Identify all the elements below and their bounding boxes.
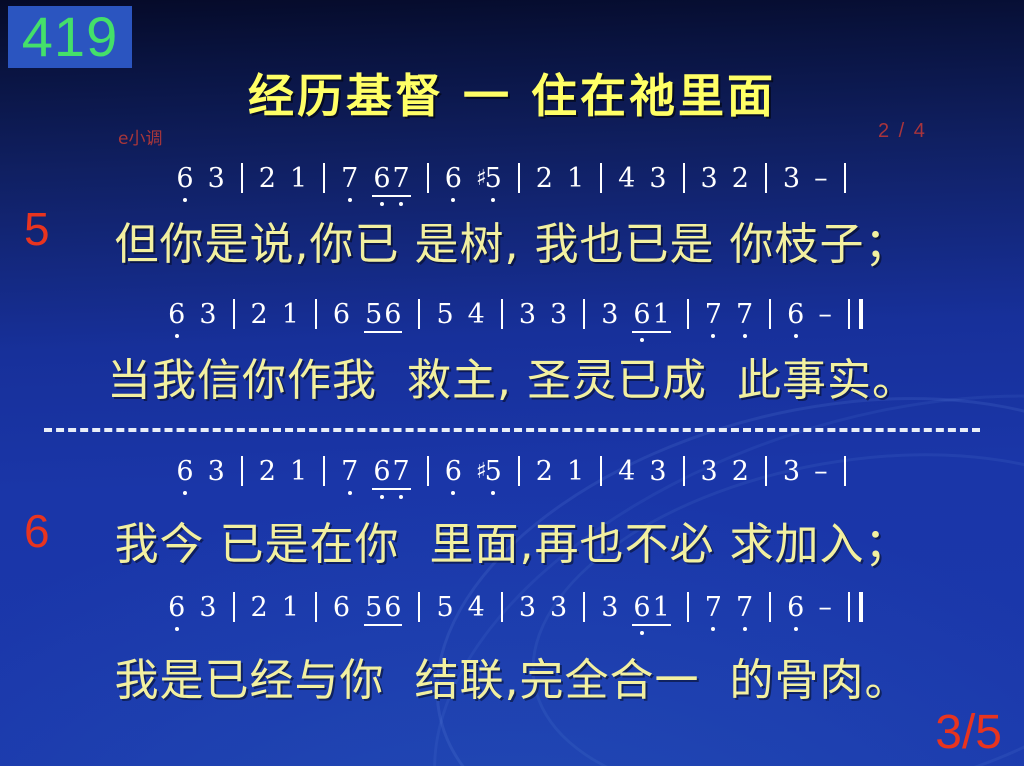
note: 1 bbox=[283, 456, 314, 487]
page-title: 经历基督 一 住在祂里面 bbox=[0, 60, 1024, 126]
note-value: 4 bbox=[618, 163, 635, 194]
notation-line-1: 63217676♯52143323– bbox=[0, 163, 1024, 194]
note: 4 bbox=[461, 299, 492, 330]
note: 3 bbox=[594, 299, 625, 330]
measure: 6♯5 bbox=[438, 163, 509, 194]
note-value: 1 bbox=[282, 299, 299, 330]
note-value: 6 bbox=[383, 299, 402, 330]
barline bbox=[315, 592, 317, 622]
note-value: 3 bbox=[199, 592, 216, 623]
note: 2 bbox=[244, 299, 275, 330]
note: 6 bbox=[780, 299, 811, 330]
note-value: 3 bbox=[649, 456, 666, 487]
note-value: 7 bbox=[341, 163, 358, 194]
measure: 21 bbox=[252, 163, 314, 194]
note-value: 6 bbox=[372, 163, 391, 194]
note: 1 bbox=[560, 163, 591, 194]
barline bbox=[418, 299, 420, 329]
note-value: 6 bbox=[333, 299, 350, 330]
measure: 43 bbox=[611, 456, 673, 487]
lyrics-line-3: 我今 已是在你 里面,再也不必 求加入； bbox=[0, 508, 1024, 572]
note-value: 5 bbox=[436, 299, 453, 330]
note: 6 bbox=[326, 299, 357, 330]
measure: 77 bbox=[698, 299, 760, 330]
beam-bar: 67 bbox=[372, 163, 410, 194]
note: 1 bbox=[283, 163, 314, 194]
note-value: 1 bbox=[282, 592, 299, 623]
measure: 6– bbox=[780, 299, 839, 330]
barline bbox=[844, 163, 846, 193]
barline bbox=[427, 456, 429, 486]
section-divider bbox=[44, 428, 980, 432]
barline bbox=[765, 456, 767, 486]
note: 3 bbox=[694, 163, 725, 194]
barline bbox=[427, 163, 429, 193]
barline bbox=[233, 592, 235, 622]
note: 1 bbox=[275, 299, 306, 330]
measure: 63 bbox=[161, 299, 223, 330]
note: 3 bbox=[694, 456, 725, 487]
measure: 32 bbox=[694, 456, 756, 487]
barline bbox=[769, 592, 771, 622]
note-value: 7 bbox=[705, 299, 722, 330]
barline bbox=[315, 299, 317, 329]
measure: 3– bbox=[776, 163, 835, 194]
note: 6 bbox=[161, 592, 192, 623]
barline bbox=[844, 456, 846, 486]
note: 2 bbox=[529, 163, 560, 194]
note-value: 6 bbox=[383, 592, 402, 623]
note-value: 2 bbox=[259, 163, 276, 194]
hymn-slide: 419 经历基督 一 住在祂里面 e小调 2 / 4 5 6 63217676♯… bbox=[0, 0, 1024, 766]
barline bbox=[687, 299, 689, 329]
note: 4 bbox=[611, 456, 642, 487]
note: 3 bbox=[201, 456, 232, 487]
beam-bar: 67 bbox=[372, 456, 410, 487]
note-value: 3 bbox=[208, 163, 225, 194]
note-value: 1 bbox=[652, 592, 671, 623]
note: 6 bbox=[326, 592, 357, 623]
measure: 63 bbox=[169, 456, 231, 487]
note: 3 bbox=[776, 163, 807, 194]
note-value: 3 bbox=[550, 592, 567, 623]
measure: 656 bbox=[326, 299, 410, 330]
measure: 21 bbox=[244, 299, 306, 330]
lyrics-line-2: 当我信你作我 救主, 圣灵已成 此事实。 bbox=[0, 344, 1024, 408]
note: 2 bbox=[252, 163, 283, 194]
barline bbox=[600, 456, 602, 486]
note-value: 3 bbox=[601, 299, 618, 330]
measure: 361 bbox=[594, 299, 678, 330]
beamed-notes: 61 bbox=[625, 592, 677, 623]
note: 7 bbox=[729, 299, 760, 330]
key-signature-label: e小调 bbox=[118, 124, 162, 149]
notation-line-3: 63217676♯52143323– bbox=[0, 456, 1024, 487]
beam-bar: 56 bbox=[364, 592, 402, 623]
barline bbox=[765, 163, 767, 193]
note-value: 6 bbox=[632, 592, 651, 623]
barline bbox=[848, 592, 850, 622]
note-value: 2 bbox=[732, 456, 749, 487]
hymn-number-badge: 419 bbox=[8, 6, 132, 68]
note: 7 bbox=[334, 163, 365, 194]
note: 5 bbox=[429, 299, 460, 330]
note-value: 5 bbox=[436, 592, 453, 623]
beam-bar: 61 bbox=[632, 299, 670, 330]
note-value: 7 bbox=[341, 456, 358, 487]
note-value: 2 bbox=[251, 592, 268, 623]
note-value: 5 bbox=[364, 592, 383, 623]
note-value: – bbox=[814, 163, 828, 194]
measure: 33 bbox=[512, 299, 574, 330]
barline bbox=[501, 299, 503, 329]
lyrics-line-1: 但你是说,你已 是树, 我也已是 你枝子； bbox=[0, 208, 1024, 272]
measure: 32 bbox=[694, 163, 756, 194]
note-value: 1 bbox=[290, 163, 307, 194]
measure: 21 bbox=[244, 592, 306, 623]
barline bbox=[418, 592, 420, 622]
note-value: 1 bbox=[652, 299, 671, 330]
note: 3 bbox=[642, 163, 673, 194]
barline bbox=[233, 299, 235, 329]
barline bbox=[683, 163, 685, 193]
note-value: 3 bbox=[519, 299, 536, 330]
final-barline bbox=[859, 299, 863, 329]
measure: 656 bbox=[326, 592, 410, 623]
note: 6 bbox=[169, 163, 200, 194]
note: 3 bbox=[642, 456, 673, 487]
barline bbox=[687, 592, 689, 622]
measure: 767 bbox=[334, 456, 418, 487]
measure: 77 bbox=[698, 592, 760, 623]
barline bbox=[583, 592, 585, 622]
note-value: 7 bbox=[705, 592, 722, 623]
notation-line-2: 63216565433361776– bbox=[0, 299, 1024, 330]
note: 1 bbox=[275, 592, 306, 623]
hymn-number: 419 bbox=[22, 9, 118, 65]
note: 3 bbox=[543, 592, 574, 623]
measure: 767 bbox=[334, 163, 418, 194]
note-value: 1 bbox=[567, 456, 584, 487]
barline bbox=[518, 163, 520, 193]
note: 3 bbox=[512, 299, 543, 330]
barline bbox=[600, 163, 602, 193]
note-value: 2 bbox=[259, 456, 276, 487]
final-barline bbox=[859, 592, 863, 622]
note-value: 6 bbox=[176, 163, 193, 194]
note: 2 bbox=[252, 456, 283, 487]
note-value: 6 bbox=[168, 592, 185, 623]
note: 3 bbox=[192, 592, 223, 623]
note-value: 6 bbox=[445, 163, 462, 194]
note-value: 5 bbox=[485, 163, 502, 194]
note-value: 3 bbox=[701, 456, 718, 487]
note: 6 bbox=[780, 592, 811, 623]
measure: 6♯5 bbox=[438, 456, 509, 487]
note-value: 2 bbox=[536, 456, 553, 487]
note: 7 bbox=[334, 456, 365, 487]
note: 3 bbox=[776, 456, 807, 487]
note-value: 6 bbox=[445, 456, 462, 487]
beamed-notes: 67 bbox=[365, 163, 417, 194]
note: 7 bbox=[698, 299, 729, 330]
beamed-notes: 67 bbox=[365, 456, 417, 487]
barline bbox=[241, 163, 243, 193]
note-value: 4 bbox=[618, 456, 635, 487]
barline bbox=[769, 299, 771, 329]
note: 3 bbox=[543, 299, 574, 330]
measure: 33 bbox=[512, 592, 574, 623]
measure: 63 bbox=[169, 163, 231, 194]
note-value: 7 bbox=[392, 456, 411, 487]
note-value: 3 bbox=[701, 163, 718, 194]
note: 3 bbox=[201, 163, 232, 194]
beamed-notes: 56 bbox=[357, 592, 409, 623]
note: 6 bbox=[438, 456, 469, 487]
note: 2 bbox=[725, 163, 756, 194]
note: 3 bbox=[192, 299, 223, 330]
note-value: 2 bbox=[732, 163, 749, 194]
note-value: 3 bbox=[783, 456, 800, 487]
note-value: 4 bbox=[468, 592, 485, 623]
note: 2 bbox=[725, 456, 756, 487]
note-value: 5 bbox=[364, 299, 383, 330]
note: 6 bbox=[438, 163, 469, 194]
beam-bar: 61 bbox=[632, 592, 670, 623]
note-value: – bbox=[818, 299, 832, 330]
measure: 54 bbox=[429, 299, 491, 330]
note-value: 7 bbox=[736, 592, 753, 623]
barline bbox=[518, 456, 520, 486]
time-signature-label: 2 / 4 bbox=[878, 120, 927, 143]
measure: 6– bbox=[780, 592, 839, 623]
note-value: 7 bbox=[392, 163, 411, 194]
note-value: 6 bbox=[787, 592, 804, 623]
note-value: 3 bbox=[519, 592, 536, 623]
lyrics-line-4: 我是已经与你 结联,完全合一 的骨肉。 bbox=[0, 644, 1024, 708]
note: 4 bbox=[611, 163, 642, 194]
barline bbox=[848, 299, 850, 329]
note-value: 3 bbox=[783, 163, 800, 194]
note-value: 1 bbox=[567, 163, 584, 194]
note-value: 6 bbox=[168, 299, 185, 330]
measure: 63 bbox=[161, 592, 223, 623]
note: – bbox=[811, 299, 839, 330]
note: – bbox=[807, 163, 835, 194]
note: 2 bbox=[244, 592, 275, 623]
measure: 3– bbox=[776, 456, 835, 487]
note-value: 1 bbox=[290, 456, 307, 487]
note-value: 7 bbox=[736, 299, 753, 330]
page-indicator: 3/5 bbox=[935, 705, 1002, 760]
barline bbox=[583, 299, 585, 329]
measure: 21 bbox=[529, 163, 591, 194]
barline bbox=[323, 163, 325, 193]
measure: 21 bbox=[529, 456, 591, 487]
note-value: 6 bbox=[632, 299, 651, 330]
beam-bar: 56 bbox=[364, 299, 402, 330]
note-value: 3 bbox=[199, 299, 216, 330]
note: ♯5 bbox=[469, 163, 509, 194]
note-value: – bbox=[814, 456, 828, 487]
note-value: 3 bbox=[550, 299, 567, 330]
note-value: 3 bbox=[601, 592, 618, 623]
note: 7 bbox=[698, 592, 729, 623]
note: 6 bbox=[169, 456, 200, 487]
measure: 361 bbox=[594, 592, 678, 623]
note: ♯5 bbox=[469, 456, 509, 487]
note-value: 6 bbox=[787, 299, 804, 330]
measure: 21 bbox=[252, 456, 314, 487]
note: 5 bbox=[429, 592, 460, 623]
note: – bbox=[807, 456, 835, 487]
note-value: 2 bbox=[251, 299, 268, 330]
notation-line-4: 63216565433361776– bbox=[0, 592, 1024, 623]
note: 6 bbox=[161, 299, 192, 330]
note: 1 bbox=[560, 456, 591, 487]
barline bbox=[501, 592, 503, 622]
note-value: 2 bbox=[536, 163, 553, 194]
barline bbox=[683, 456, 685, 486]
barline bbox=[323, 456, 325, 486]
beamed-notes: 56 bbox=[357, 299, 409, 330]
note: 7 bbox=[729, 592, 760, 623]
note-value: 5 bbox=[485, 456, 502, 487]
note-value: – bbox=[818, 592, 832, 623]
note: 3 bbox=[594, 592, 625, 623]
note-value: 6 bbox=[372, 456, 391, 487]
note: 3 bbox=[512, 592, 543, 623]
note-value: 4 bbox=[468, 299, 485, 330]
note-value: 6 bbox=[333, 592, 350, 623]
note: 4 bbox=[461, 592, 492, 623]
note: 2 bbox=[529, 456, 560, 487]
note: – bbox=[811, 592, 839, 623]
note-value: 3 bbox=[208, 456, 225, 487]
beamed-notes: 61 bbox=[625, 299, 677, 330]
barline bbox=[241, 456, 243, 486]
note-value: 3 bbox=[649, 163, 666, 194]
measure: 54 bbox=[429, 592, 491, 623]
note-value: 6 bbox=[176, 456, 193, 487]
measure: 43 bbox=[611, 163, 673, 194]
